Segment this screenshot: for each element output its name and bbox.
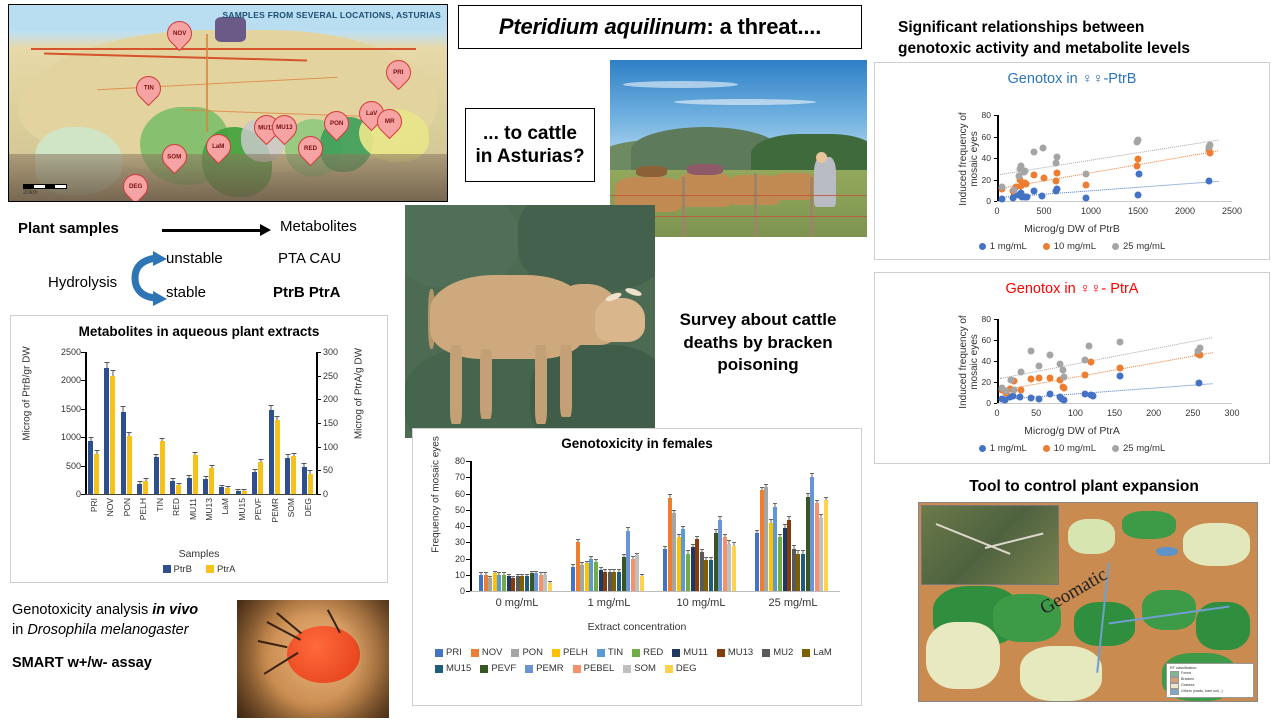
map-legend-swatch	[1170, 689, 1179, 695]
error-bar	[779, 535, 780, 537]
error-bar	[729, 541, 730, 543]
error-bar	[540, 573, 541, 574]
metabolites-bar-group	[88, 352, 99, 494]
map-scale-label: 20km	[23, 190, 38, 196]
legend-label: DEG	[676, 663, 697, 674]
geomatic-classification-map: Geomatic RF classification: ForestBracke…	[918, 502, 1258, 702]
legend-dot	[1043, 445, 1050, 452]
genotoxicity-bar-pri	[479, 575, 483, 591]
genotoxicity-y-tick-mark	[466, 591, 470, 592]
species-name: Pteridium aquilinum	[499, 14, 707, 39]
photo-cow	[677, 173, 734, 207]
genotox-ptrB-y-tick-mark	[994, 180, 997, 181]
error-bar	[641, 575, 642, 577]
genotoxicity-bar-mu11	[599, 570, 603, 591]
error-bar	[775, 504, 776, 506]
photo-fence-post	[810, 177, 813, 237]
genotox-ptrA-y-tick-mark	[994, 319, 997, 320]
genotox-ptrA-x-tick-label: 100	[1068, 408, 1083, 418]
genotoxicity-group-label: 0 mg/mL	[496, 597, 539, 609]
photo-vehicle	[636, 166, 667, 177]
error-bar-cap	[291, 453, 296, 454]
metabolites-y2-tick-label: 100	[323, 442, 338, 452]
map-legend-label: Bracken	[1181, 677, 1194, 682]
error-bar	[277, 417, 278, 420]
genotoxicity-bar-pemr	[534, 573, 538, 591]
error-bar	[499, 573, 500, 574]
metabolites-bar-group	[104, 352, 115, 494]
genotox-ptrA-baseline	[997, 403, 1232, 404]
error-bar-cap	[663, 546, 667, 547]
metabolites-bar-ptra	[258, 462, 263, 494]
error-bar	[669, 495, 670, 498]
genotoxicity-bar-mu13	[511, 578, 515, 591]
error-bar	[189, 476, 190, 478]
metabolites-y-tick-label: 1500	[41, 404, 81, 414]
genotoxicity-legend-item: SOM	[623, 663, 656, 674]
metabolites-y-tick-mark	[81, 437, 85, 438]
legend-label: RED	[643, 647, 663, 658]
error-bar	[195, 453, 196, 455]
error-bar-cap	[704, 557, 708, 558]
error-bar-cap	[121, 406, 126, 407]
genotox-ptrA-point	[1028, 347, 1035, 354]
legend-label: 10 mg/mL	[1054, 241, 1096, 252]
error-bar-cap	[209, 465, 214, 466]
genotox-ptrB-x-axis-title: Microg/g DW of PtrB	[875, 223, 1269, 235]
genotoxicity-y-tick-mark	[466, 559, 470, 560]
inset-road	[935, 523, 1010, 555]
error-bar-cap	[686, 550, 690, 551]
legend-label: PRI	[446, 647, 462, 658]
error-bar-cap	[520, 574, 524, 575]
legend-label: 10 mg/mL	[1054, 443, 1096, 454]
error-bar-cap	[137, 481, 142, 482]
legend-swatch	[665, 665, 673, 673]
error-bar	[96, 451, 97, 454]
error-bar	[623, 555, 624, 557]
metabolites-bar-group	[269, 352, 280, 494]
genotoxicity-bar-pri	[755, 533, 759, 592]
error-bar-cap	[723, 534, 727, 535]
error-bar	[244, 490, 245, 491]
error-bar	[293, 454, 294, 456]
legend-label: 1 mg/mL	[990, 443, 1027, 454]
metabolites-y2-tick-label: 300	[323, 347, 338, 357]
genotoxicity-bar-pelh	[493, 573, 497, 591]
error-bar	[628, 528, 629, 530]
metabolites-bar-group	[219, 352, 230, 494]
genotox-ptrB-chart: Genotox in ♀♀-PtrBInduced frequency of m…	[874, 62, 1270, 260]
error-bar	[573, 565, 574, 567]
legend-swatch	[480, 665, 488, 673]
pathway-stable-metabolites: PtrB PtrA	[273, 284, 341, 301]
survey-callout: Survey about cattle deaths by bracken po…	[658, 268, 858, 418]
genotox-ptrA-point	[1036, 395, 1043, 402]
error-bar-cap	[479, 572, 483, 573]
genotox-ptrB-baseline	[997, 201, 1232, 202]
survey-line-3: poisoning	[680, 354, 837, 377]
metabolites-bar-ptrb	[269, 410, 274, 494]
genotoxicity-females-chart: Genotoxicity in females Frequency of mos…	[412, 428, 862, 706]
photo-cow	[772, 173, 816, 200]
photo-bull-head	[595, 298, 645, 342]
error-bar	[549, 582, 550, 583]
map-grass-patch	[1183, 523, 1251, 567]
genotoxicity-analysis-caption: Genotoxicity analysis in vivo in Drosoph…	[12, 600, 242, 671]
genotox-ptrB-point	[1135, 171, 1142, 178]
legend-swatch	[525, 665, 533, 673]
error-bar-cap	[488, 576, 492, 577]
genotox-ptrB-point	[1054, 153, 1061, 160]
bull-in-bracken-photo	[405, 205, 655, 438]
genotoxicity-bar-nov	[576, 542, 580, 591]
metabolites-y2-tick-label: 50	[323, 465, 333, 475]
legend-swatch	[597, 649, 605, 657]
map-legend-label: Others (roads, bare soil,..)	[1181, 689, 1223, 694]
legend-swatch	[206, 565, 214, 573]
photo-cloud	[674, 99, 815, 105]
genotoxicity-bar-mu13	[695, 539, 699, 591]
legend-swatch	[623, 665, 631, 673]
genotox-ptrA-y-tick-label: 80	[967, 314, 991, 324]
error-bar-cap	[275, 416, 280, 417]
genotox-ptrB-y-tick-mark	[994, 137, 997, 138]
genotox-ptrA-y-tick-mark	[994, 361, 997, 362]
metabolites-bar-group	[187, 352, 198, 494]
genotox-ptrA-x-tick-label: 50	[1031, 408, 1041, 418]
metabolites-bar-ptra	[160, 441, 165, 494]
legend-swatch	[435, 649, 443, 657]
error-bar-cap	[576, 539, 580, 540]
map-pin-label: RED	[304, 145, 317, 152]
metabolites-x-tick-label: DEG	[303, 498, 313, 516]
error-bar	[798, 551, 799, 553]
legend-dot	[1112, 243, 1119, 250]
genotoxicity-bar-pon	[764, 487, 768, 591]
metabolites-bar-ptrb	[302, 467, 307, 494]
photo-bull-leg	[450, 345, 462, 424]
genotoxicity-y-tick-mark	[466, 494, 470, 495]
metabolites-bar-ptra	[143, 481, 148, 494]
error-bar	[687, 551, 688, 553]
genotoxicity-bar-nov	[484, 575, 488, 591]
error-bar	[789, 517, 790, 519]
error-bar	[481, 573, 482, 574]
pathway-stable-label: stable	[166, 284, 206, 301]
error-bar-cap	[539, 572, 543, 573]
error-bar	[609, 570, 610, 572]
map-pin-label: SOM	[168, 153, 182, 160]
genotox-ptrB-y-tick-label: 20	[967, 175, 991, 185]
metabolites-bar-ptrb	[104, 368, 109, 494]
genotoxicity-y-tick-mark	[466, 526, 470, 527]
genotox-ptrA-point	[1002, 388, 1009, 395]
metabolites-baseline	[85, 494, 317, 495]
error-bar-cap	[612, 569, 616, 570]
error-bar-cap	[203, 476, 208, 477]
genotoxicity-bar-pemr	[626, 531, 630, 591]
survey-line-1: Survey about cattle	[680, 309, 837, 332]
genotoxicity-bar-mu11	[691, 547, 695, 591]
genotoxicity-bar-som	[635, 555, 639, 591]
legend-swatch	[632, 649, 640, 657]
error-bar-cap	[534, 571, 538, 572]
metabolites-bar-group	[170, 352, 181, 494]
map-grass-patch	[1068, 519, 1115, 555]
genotox-ptrB-point	[1207, 142, 1214, 149]
map-road	[206, 34, 208, 132]
genotoxicity-bar-red	[594, 562, 598, 591]
genotoxicity-bar-deg	[824, 500, 828, 591]
genotoxicity-bar-mu15	[801, 554, 805, 591]
genotox-ptrA-point	[1086, 343, 1093, 350]
legend-label: MU15	[446, 663, 471, 674]
legend-dot	[1112, 445, 1119, 452]
legend-swatch	[672, 649, 680, 657]
photo-bull-leg	[480, 349, 492, 419]
genotoxicity-x-axis-title: Extract concentration	[413, 621, 861, 633]
map-caption: SAMPLES FROM SEVERAL LOCATIONS, ASTURIAS	[223, 10, 441, 20]
metabolites-bar-ptrb	[236, 491, 241, 494]
map-legend-label: Forest	[1181, 671, 1191, 676]
error-bar	[221, 486, 222, 487]
genotoxicity-bar-red	[686, 554, 690, 591]
genotoxicity-bar-nov	[668, 498, 672, 591]
error-bar	[710, 558, 711, 560]
error-bar	[807, 494, 808, 496]
pathway-hydrolysis-label: Hydrolysis	[48, 274, 117, 291]
error-bar	[238, 490, 239, 491]
error-bar-cap	[160, 438, 165, 439]
genotoxicity-bar-group	[755, 461, 828, 591]
genotoxicity-bar-lam	[520, 576, 524, 591]
genotoxicity-legend-item: MU13	[717, 647, 753, 658]
genotoxicity-bar-mu15	[617, 572, 621, 592]
metabolites-bar-ptra	[94, 454, 99, 494]
genotox-ptrA-point	[1088, 359, 1095, 366]
error-bar-cap	[617, 569, 621, 570]
legend-dot	[1043, 243, 1050, 250]
error-bar	[513, 577, 514, 578]
metabolites-y2-tick-mark	[317, 470, 321, 471]
genotoxicity-bar-mu2	[792, 549, 796, 591]
metabolites-x-tick-label: MU11	[188, 498, 198, 520]
genotoxicity-bar-pemr	[810, 477, 814, 591]
map-pin-label: DEG	[129, 183, 142, 190]
genotox-ptrA-point	[1036, 363, 1043, 370]
genotox-ptrA-x-tick-label: 300	[1224, 408, 1239, 418]
error-bar	[287, 455, 288, 458]
genotoxicity-legend-item: PRI	[435, 647, 462, 658]
sig-heading-line-2: genotoxic activity and metabolite levels	[898, 39, 1270, 60]
genotox-ptrB-point	[1030, 148, 1037, 155]
error-bar-cap	[170, 478, 175, 479]
metabolites-bar-group	[154, 352, 165, 494]
legend-label: PEMR	[536, 663, 563, 674]
genotoxicity-bar-pri	[663, 549, 667, 591]
poster-title-text: Pteridium aquilinum: a threat....	[499, 14, 821, 40]
metabolites-bar-ptra	[127, 436, 132, 494]
error-bar	[618, 570, 619, 572]
map-mountain-shading	[9, 154, 447, 201]
metabolites-chart-title: Metabolites in aqueous plant extracts	[11, 324, 387, 339]
genotox-ptrB-point	[1053, 160, 1060, 167]
metabolites-bar-ptrb	[187, 478, 192, 494]
metabolites-y2-tick-mark	[317, 447, 321, 448]
error-bar	[211, 466, 212, 468]
genotoxicity-bar-lam	[796, 554, 800, 591]
error-bar-cap	[594, 559, 598, 560]
error-bar-cap	[700, 549, 704, 550]
error-bar	[825, 498, 826, 500]
error-bar	[172, 479, 173, 481]
genotox-ptrA-point	[1196, 345, 1203, 352]
error-bar-cap	[511, 576, 515, 577]
genotoxicity-bar-som	[819, 518, 823, 591]
metabolites-y2-tick-mark	[317, 376, 321, 377]
legend-dot	[979, 445, 986, 452]
error-bar	[129, 433, 130, 436]
error-bar-cap	[176, 483, 181, 484]
genotoxicity-legend-item: DEG	[665, 663, 697, 674]
genotoxicity-legend-item: PEMR	[525, 663, 563, 674]
genotox-ptrB-point	[1039, 192, 1046, 199]
genotoxicity-bar-pelh	[585, 563, 589, 591]
error-bar-cap	[104, 362, 109, 363]
genotoxicity-bar-pebel	[631, 559, 635, 592]
error-bar-cap	[714, 529, 718, 530]
error-bar	[271, 406, 272, 410]
error-bar-cap	[677, 534, 681, 535]
error-bar-cap	[154, 454, 159, 455]
metabolites-bar-group	[121, 352, 132, 494]
genotoxicity-bar-pri	[571, 567, 575, 591]
genotox-ptrA-point	[1028, 375, 1035, 382]
genotox-ptrB-title: Genotox in ♀♀-PtrB	[875, 71, 1269, 87]
genotox-ptrB-y-tick-label: 0	[967, 196, 991, 206]
genotox-ptrB-point	[1135, 156, 1142, 163]
metabolites-y-axis-title: Microg of PtrB/gr DW	[22, 334, 33, 454]
legend-label: MU11	[683, 647, 708, 658]
metabolites-bar-ptra	[110, 376, 115, 494]
error-bar	[260, 460, 261, 462]
error-bar	[715, 530, 716, 532]
metabolites-y2-tick-mark	[317, 494, 321, 495]
error-bar	[812, 474, 813, 477]
error-bar	[637, 554, 638, 556]
error-bar	[674, 511, 675, 513]
genotox-ptrA-legend-item: 1 mg/mL	[979, 443, 1027, 454]
genotox-ptrA-x-axis-title: Microg/g DW of PtrA	[875, 425, 1269, 437]
error-bar-cap	[308, 470, 313, 471]
legend-swatch	[511, 649, 519, 657]
genotox-ptrB-y-tick-mark	[994, 201, 997, 202]
error-bar-cap	[187, 475, 192, 476]
genotoxicity-legend-item: MU15	[435, 663, 471, 674]
genotoxicity-plot-area	[471, 461, 839, 591]
legend-label: PtrA	[217, 564, 235, 575]
metabolites-y2-axis-title: Microg of PtrA/g DW	[354, 334, 365, 454]
error-bar-cap	[269, 405, 274, 406]
metabolites-legend-item: PtrB	[163, 564, 192, 575]
genotox-ptrB-x-tick-label: 1500	[1128, 206, 1148, 216]
genotoxicity-group-label: 10 mg/mL	[677, 597, 726, 609]
geno-analysis-invivo: in vivo	[152, 602, 198, 618]
error-bar-cap	[631, 556, 635, 557]
legend-label: MU13	[728, 647, 753, 658]
genotox-ptrA-point	[1047, 390, 1054, 397]
genotoxicity-legend-item: NOV	[471, 647, 503, 658]
genotox-ptrB-x-tick-label: 2500	[1222, 206, 1242, 216]
genotoxicity-y-tick-mark	[466, 477, 470, 478]
error-bar-cap	[580, 562, 584, 563]
error-bar	[490, 577, 491, 578]
metabolites-x-tick-label: PEVF	[253, 498, 263, 520]
error-bar-cap	[236, 489, 241, 490]
error-bar-cap	[502, 572, 506, 573]
metabolites-x-tick-label: SOM	[286, 498, 296, 517]
genotox-ptrA-chart: Genotox in ♀♀- PtrAInduced frequency of …	[874, 272, 1270, 464]
legend-swatch	[573, 665, 581, 673]
genotox-ptrB-point	[1024, 193, 1031, 200]
inset-road	[984, 532, 1043, 548]
metabolites-bar-ptra	[291, 456, 296, 494]
error-bar-cap	[530, 571, 534, 572]
metabolites-y2-tick-label: 0	[323, 489, 328, 499]
genotox-ptrA-point	[1017, 387, 1024, 394]
genotox-ptrA-point	[1116, 372, 1123, 379]
genotox-ptrB-legend-item: 1 mg/mL	[979, 241, 1027, 252]
metabolites-x-tick-label: PON	[122, 498, 132, 516]
metabolites-bar-ptra	[209, 468, 214, 495]
genotoxicity-y-tick-label: 60	[431, 489, 465, 499]
error-bar	[614, 570, 615, 572]
survey-line-2: deaths by bracken	[680, 332, 837, 355]
map-road	[31, 48, 416, 50]
genotox-ptrB-point	[1135, 191, 1142, 198]
metabolites-legend-item: PtrA	[206, 564, 235, 575]
genotoxicity-bar-deg	[732, 546, 736, 592]
genotox-ptrA-point	[1047, 374, 1054, 381]
genotoxicity-bar-mu15	[525, 576, 529, 591]
genotoxicity-legend: PRINOVPONPELHTINREDMU11MU13MU2LaMMU15PEV…	[435, 647, 845, 674]
map-classification-legend: RF classification: ForestBrackenGrassesO…	[1166, 663, 1254, 698]
error-bar-cap	[626, 527, 630, 528]
error-bar	[761, 488, 762, 490]
legend-label: PON	[522, 647, 543, 658]
genotox-ptrB-legend-item: 10 mg/mL	[1043, 241, 1096, 252]
metabolites-y2-tick-mark	[317, 352, 321, 353]
error-bar-cap	[497, 572, 501, 573]
map-pin-label: MU13	[276, 124, 293, 131]
error-bar	[706, 558, 707, 560]
genotox-ptrB-x-tick-label: 2000	[1175, 206, 1195, 216]
metabolites-bar-ptrb	[252, 472, 257, 494]
map-water-body	[1156, 547, 1178, 556]
genotoxicity-bar-som	[543, 575, 547, 591]
genotox-ptrB-point	[999, 184, 1006, 191]
map-pin-label: TIN	[144, 85, 154, 92]
genotox-ptrB-point	[1053, 177, 1060, 184]
genotox-ptrA-point	[1061, 396, 1068, 403]
error-bar-cap	[571, 564, 575, 565]
metabolites-bar-group	[285, 352, 296, 494]
genotoxicity-legend-item: PELH	[552, 647, 588, 658]
error-bar	[577, 540, 578, 542]
metabolites-x-tick-label: NOV	[105, 498, 115, 516]
genotox-ptrB-point	[1030, 188, 1037, 195]
